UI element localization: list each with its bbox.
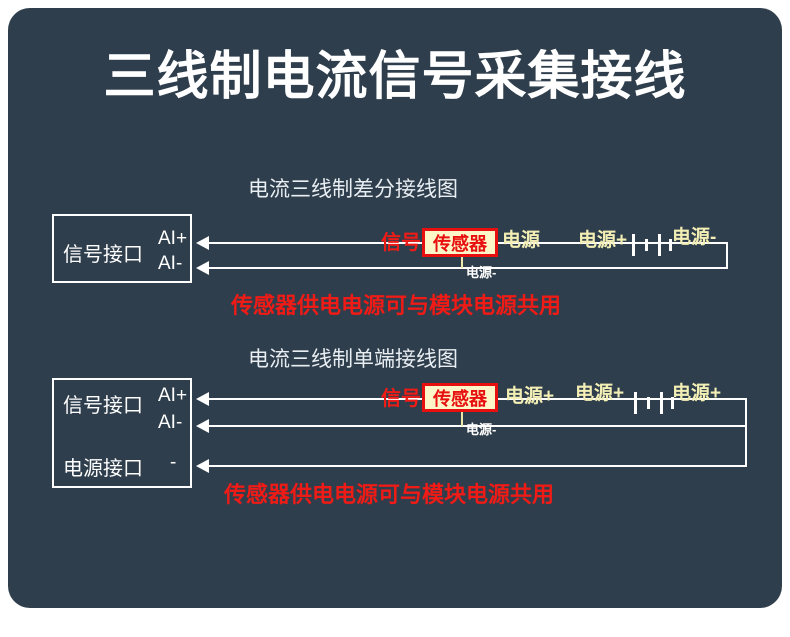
diagram2-power-minus-wire (209, 465, 747, 467)
diagram2-note: 传感器供电电源可与模块电源共用 (224, 477, 554, 509)
diagram1-arrow-ai-minus (196, 261, 209, 275)
diagram2-battery-short-bar-1 (647, 397, 650, 409)
diagram1-power-label-2: 电源- (672, 222, 716, 249)
diagram1-battery-short-bar-2 (669, 239, 672, 251)
diagram1-note: 传感器供电电源可与模块电源共用 (231, 288, 561, 320)
diagram2-power-return-label: 电源- (466, 419, 496, 438)
diagram2-pin-ai-minus: AI- (158, 412, 182, 434)
diagram2-sensor-box: 传感器 (422, 383, 498, 412)
diagram1-signal-label: 信号 (381, 226, 421, 255)
diagram1-battery-short-bar-1 (645, 239, 648, 251)
diagram1-pin-ai-minus: AI- (158, 253, 182, 275)
diagram2-title: 电流三线制单端接线图 (248, 343, 458, 373)
diagram1-right-vertical-wire (726, 242, 728, 269)
diagram1-interface-label: 信号接口 (63, 238, 143, 267)
diagram1-power-label-0: 电源 (502, 225, 540, 252)
diagram1-power-return-label: 电源- (466, 262, 496, 281)
diagram2-right-vertical-wire (745, 398, 747, 467)
diagram2-pin-ai-plus: AI+ (158, 385, 187, 407)
diagram2-arrow-ai-plus (196, 392, 209, 406)
wiring-diagram-page: 三线制电流信号采集接线 电流三线制差分接线图 信号接口 AI+ AI- 信号 传… (0, 0, 790, 637)
diagram2-arrow-power-minus (196, 459, 209, 473)
diagram2-signal-label: 信号 (381, 382, 421, 411)
diagram2-power-label-1: 电源+ (575, 378, 624, 405)
diagram1-battery-long-bar-2 (658, 234, 661, 256)
diagram1-arrow-ai-plus (196, 236, 209, 250)
diagram2-signal-interface-label: 信号接口 (63, 389, 143, 418)
diagram1-sensor-box: 传感器 (422, 228, 498, 257)
diagram2-power-interface-label: 电源接口 (63, 452, 143, 481)
diagram2-battery-long-bar-2 (660, 392, 663, 414)
diagram2-battery-short-bar-2 (671, 397, 674, 409)
diagram1-pin-ai-plus: AI+ (158, 228, 187, 250)
diagram1-title: 电流三线制差分接线图 (248, 173, 458, 203)
diagram2-power-label-2: 电源+ (672, 378, 721, 405)
diagram2-battery-long-bar-1 (634, 392, 637, 414)
diagram1-power-label-1: 电源+ (578, 225, 627, 252)
diagram2-pin-power-minus: - (170, 452, 176, 474)
diagram2-arrow-ai-minus (196, 419, 209, 433)
page-title: 三线制电流信号采集接线 (0, 48, 790, 108)
diagram1-battery-long-bar-1 (632, 234, 635, 256)
diagram2-power-label-0: 电源+ (505, 381, 554, 408)
